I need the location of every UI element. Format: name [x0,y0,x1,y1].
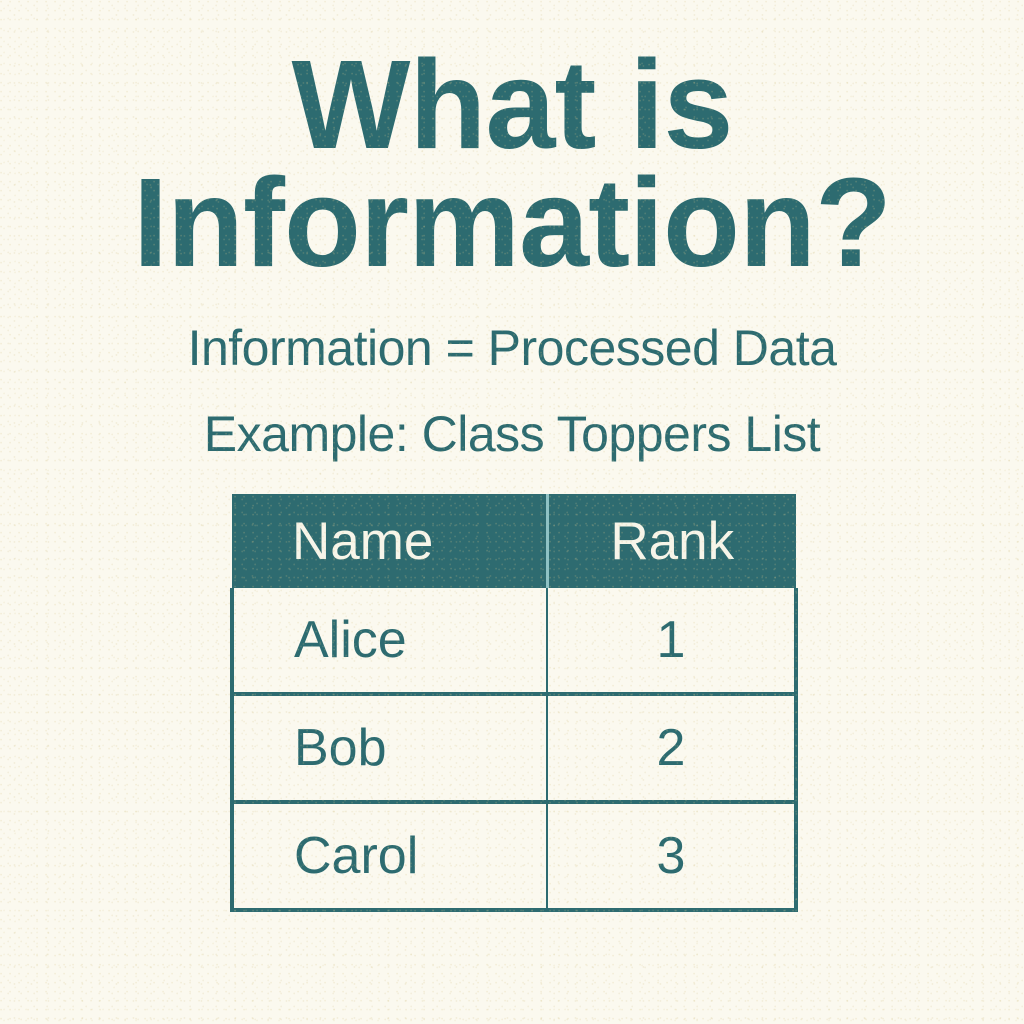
table-body: Alice 1 Bob 2 Carol 3 [232,588,796,910]
table-row: Carol 3 [232,802,796,910]
title-line-1: What is [0,46,1024,164]
cell-name: Alice [232,588,547,694]
title-line-2: Information? [0,164,1024,282]
table-row: Bob 2 [232,694,796,802]
table-row: Alice 1 [232,588,796,694]
column-header-name: Name [232,494,547,588]
page-title: What is Information? [0,46,1024,282]
cell-rank: 1 [547,588,796,694]
subtitle: Information = Processed Data Example: Cl… [0,305,1024,477]
subtitle-line-2: Example: Class Toppers List [0,391,1024,477]
cell-name: Bob [232,694,547,802]
table-header-row: Name Rank [232,494,796,588]
slide-canvas: What is Information? Information = Proce… [0,0,1024,1024]
subtitle-line-1: Information = Processed Data [0,305,1024,391]
class-toppers-table: Name Rank Alice 1 Bob 2 Carol 3 [230,494,794,912]
toppers-table: Name Rank Alice 1 Bob 2 Carol 3 [230,494,798,912]
table-head: Name Rank [232,494,796,588]
column-header-rank: Rank [547,494,796,588]
cell-rank: 2 [547,694,796,802]
cell-rank: 3 [547,802,796,910]
cell-name: Carol [232,802,547,910]
